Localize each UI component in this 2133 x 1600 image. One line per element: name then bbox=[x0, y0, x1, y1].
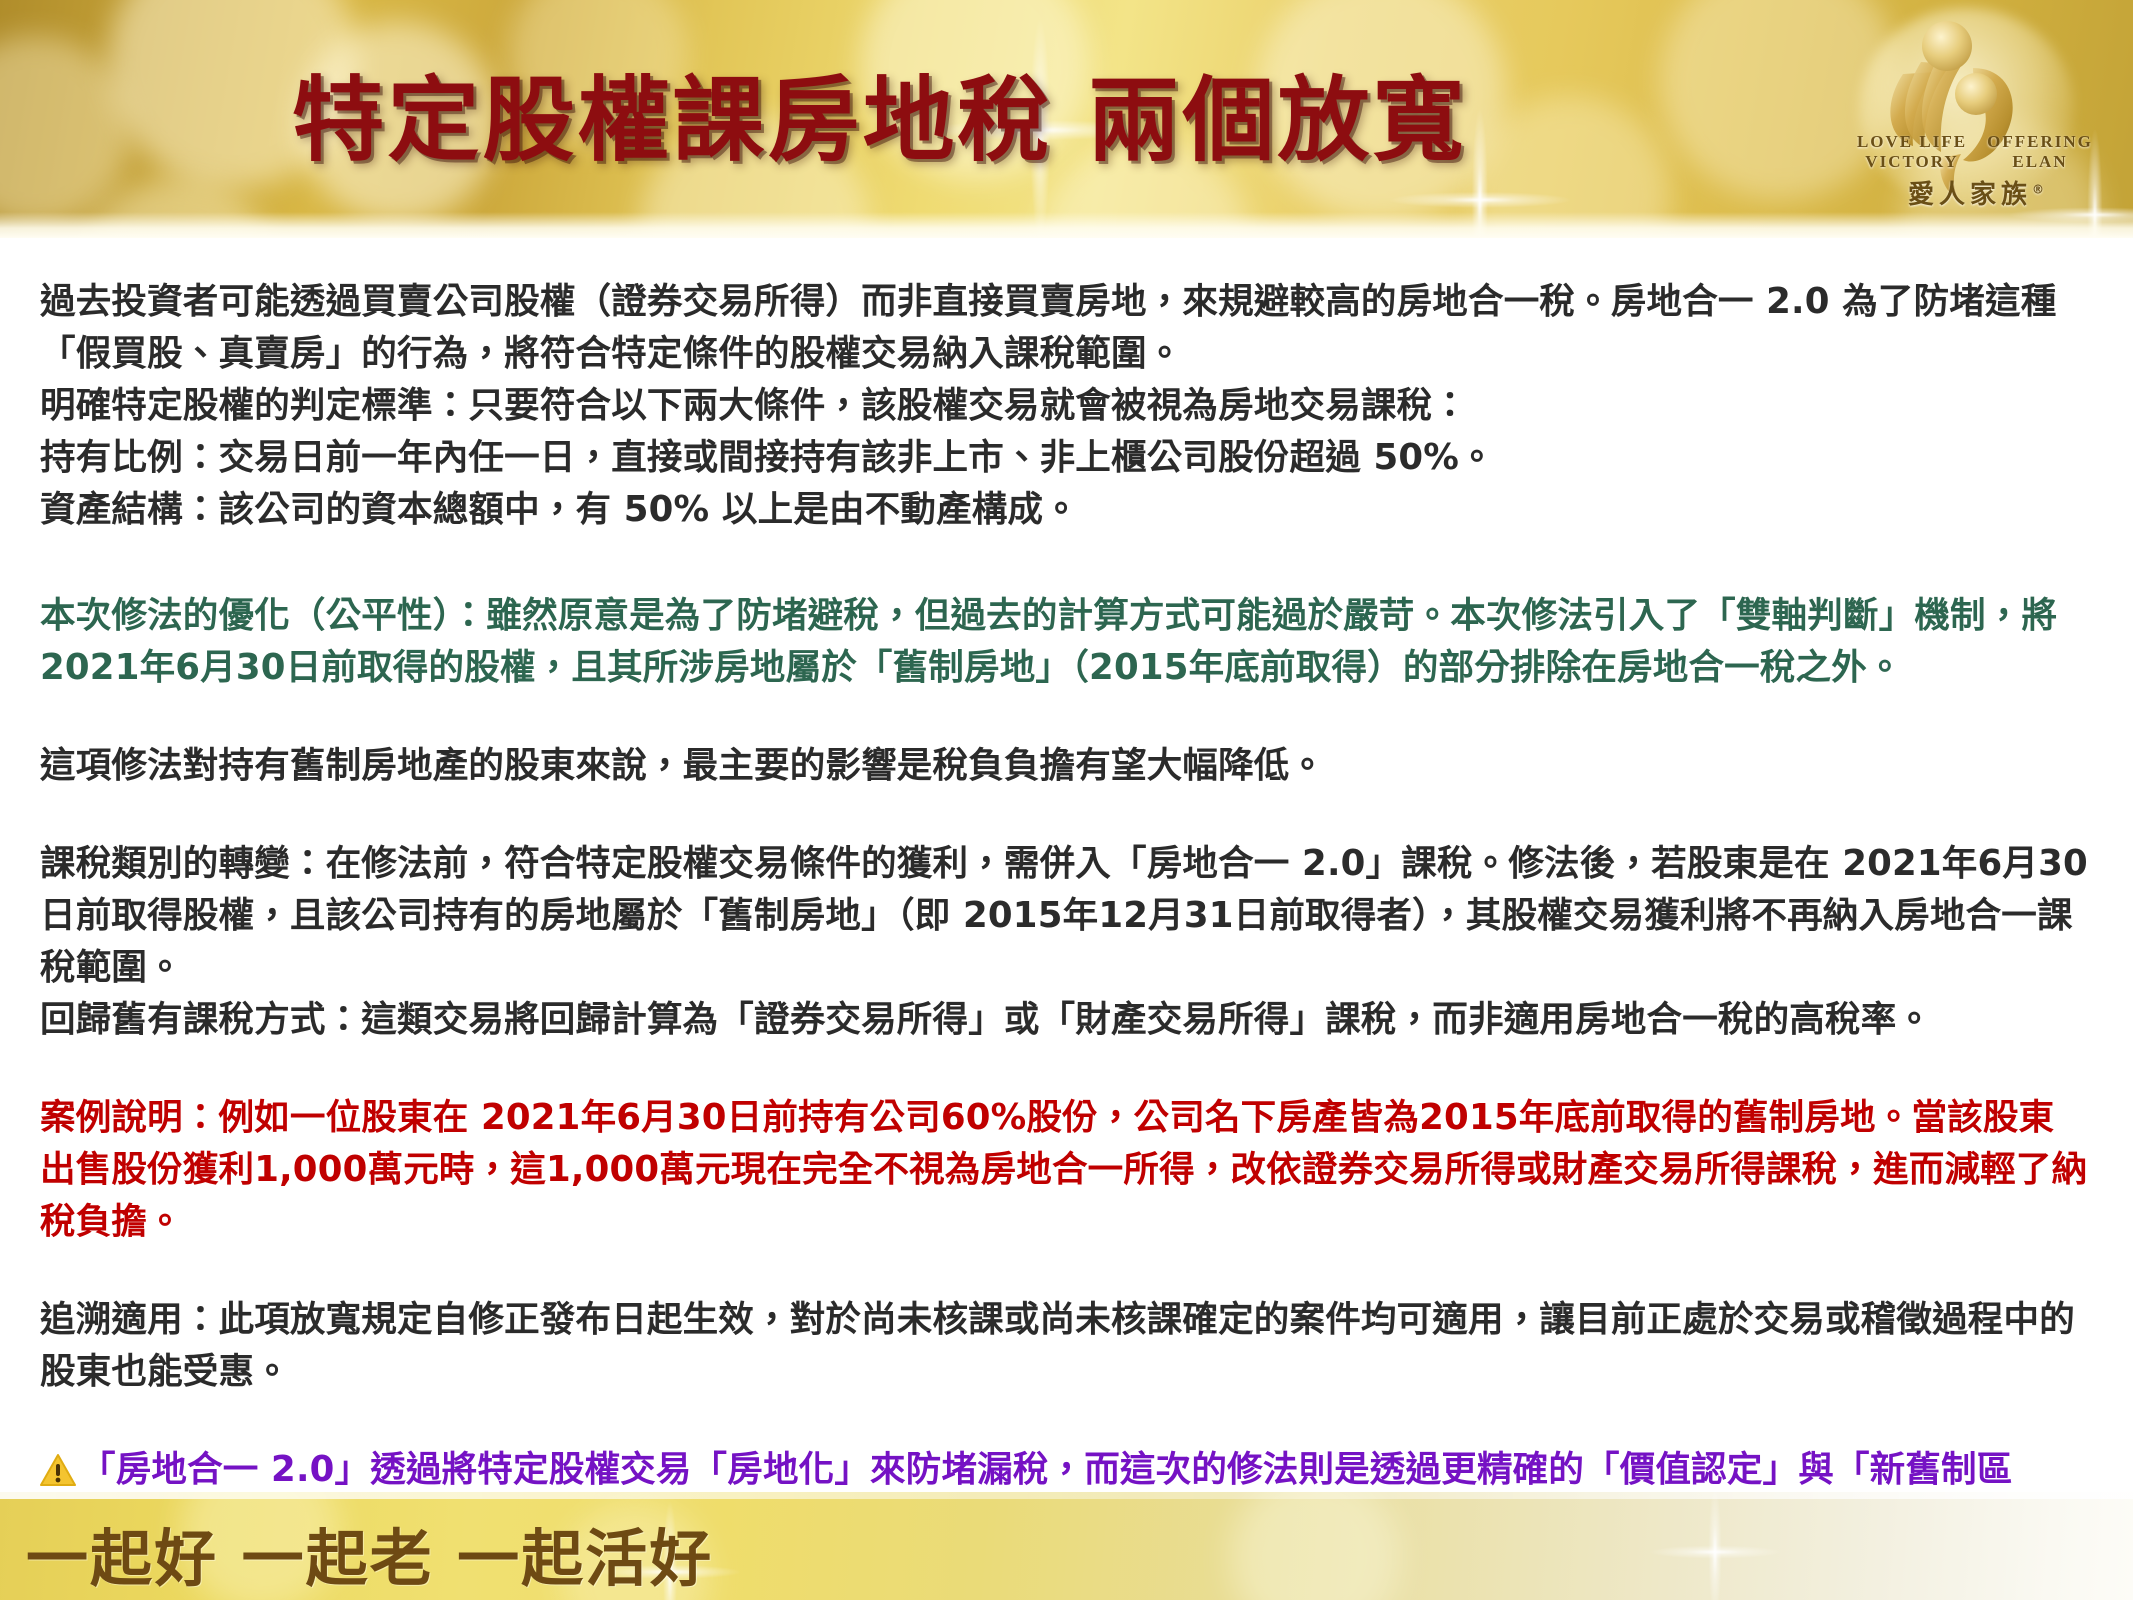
slide-body: 過去投資者可能透過買賣公司股權（證券交易所得）而非直接買賣房地，來規避較高的房地… bbox=[0, 238, 2133, 1492]
paragraph-retroactive: 追溯適用：此項放寬規定自修正發布日起生效，對於尚未核課或尚未核課確定的案件均可適… bbox=[40, 1294, 2089, 1398]
spacer bbox=[40, 1398, 2089, 1444]
spacer bbox=[40, 1248, 2089, 1294]
logo-en-right-2: ELAN bbox=[1976, 152, 2104, 172]
logo-english-line-1: LOVE LIFEOFFERING bbox=[1841, 132, 2111, 152]
paragraph-intro: 過去投資者可能透過買賣公司股權（證券交易所得）而非直接買賣房地，來規避較高的房地… bbox=[40, 276, 2089, 380]
spacer bbox=[40, 792, 2089, 838]
spacer bbox=[40, 536, 2089, 590]
page-title: 特定股權課房地稅 兩個放寬 bbox=[0, 46, 1760, 179]
footer-slogan: 一起好 一起老 一起活好 bbox=[26, 1508, 713, 1598]
logo-chinese-name: 愛人家族® bbox=[1841, 174, 2111, 211]
header-banner: 特定股權課房地稅 兩個放寬 bbox=[0, 0, 2133, 238]
paragraph-optimization: 本次修法的優化（公平性）：雖然原意是為了防堵避稅，但過去的計算方式可能過於嚴苛。… bbox=[40, 590, 2089, 694]
paragraph-category-change: 課稅類別的轉變：在修法前，符合特定股權交易條件的獲利，需併入「房地合一 2.0」… bbox=[40, 838, 2089, 994]
paragraph-criteria-intro: 明確特定股權的判定標準：只要符合以下兩大條件，該股權交易就會被視為房地交易課稅： bbox=[40, 380, 2089, 432]
logo-en-left-1: LOVE LIFE bbox=[1848, 132, 1976, 152]
paragraph-criteria-holding: 持有比例：交易日前一年內任一日，直接或間接持有該非上市、非上櫃公司股份超過 50… bbox=[40, 432, 2089, 484]
registered-trademark-icon: ® bbox=[2032, 182, 2044, 196]
sparkle-decor bbox=[1650, 1492, 1780, 1600]
spacer bbox=[40, 694, 2089, 740]
logo-en-left-2: VICTORY bbox=[1848, 152, 1976, 172]
header-fade-decor bbox=[0, 212, 2133, 238]
brand-logo: LOVE LIFEOFFERING VICTORYELAN 愛人家族® bbox=[1841, 6, 2111, 214]
paragraph-case-example: 案例說明：例如一位股東在 2021年6月30日前持有公司60%股份，公司名下房產… bbox=[40, 1092, 2089, 1248]
paragraph-old-method: 回歸舊有課稅方式：這類交易將回歸計算為「證券交易所得」或「財產交易所得」課稅，而… bbox=[40, 994, 2089, 1046]
bokeh-decor bbox=[1230, 1492, 1400, 1600]
spacer bbox=[40, 1046, 2089, 1092]
logo-chinese-text: 愛人家族 bbox=[1908, 180, 2032, 210]
paragraph-impact: 這項修法對持有舊制房地產的股東來說，最主要的影響是稅負負擔有望大幅降低。 bbox=[40, 740, 2089, 792]
logo-en-right-1: OFFERING bbox=[1976, 132, 2104, 152]
logo-english-line-2: VICTORYELAN bbox=[1841, 152, 2111, 172]
footer-banner: 一起好 一起老 一起活好 bbox=[0, 1492, 2133, 1600]
paragraph-criteria-assets: 資產結構：該公司的資本總額中，有 50% 以上是由不動產構成。 bbox=[40, 484, 2089, 536]
